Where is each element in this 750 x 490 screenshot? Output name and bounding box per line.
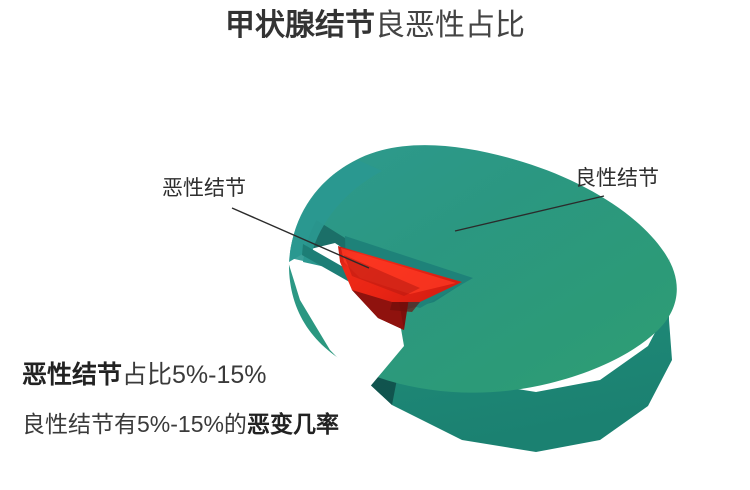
infographic-root: 甲状腺结节良恶性占比 (0, 0, 750, 490)
footnote-malignant-share: 恶性结节占比5%-15% (22, 358, 267, 392)
callout-label-benign: 良性结节 (575, 166, 659, 192)
footnote-benign-risk: 良性结节有5%-15%的恶变几率 (22, 408, 339, 440)
footnote-2-bold: 恶变几率 (247, 411, 339, 437)
footnote-2-rest: 良性结节有5%-15%的 (22, 411, 247, 437)
callout-label-malignant: 恶性结节 (162, 176, 246, 202)
footnote-1-rest: 占比5%-15% (122, 361, 267, 389)
footnote-1-bold: 恶性结节 (22, 361, 122, 389)
